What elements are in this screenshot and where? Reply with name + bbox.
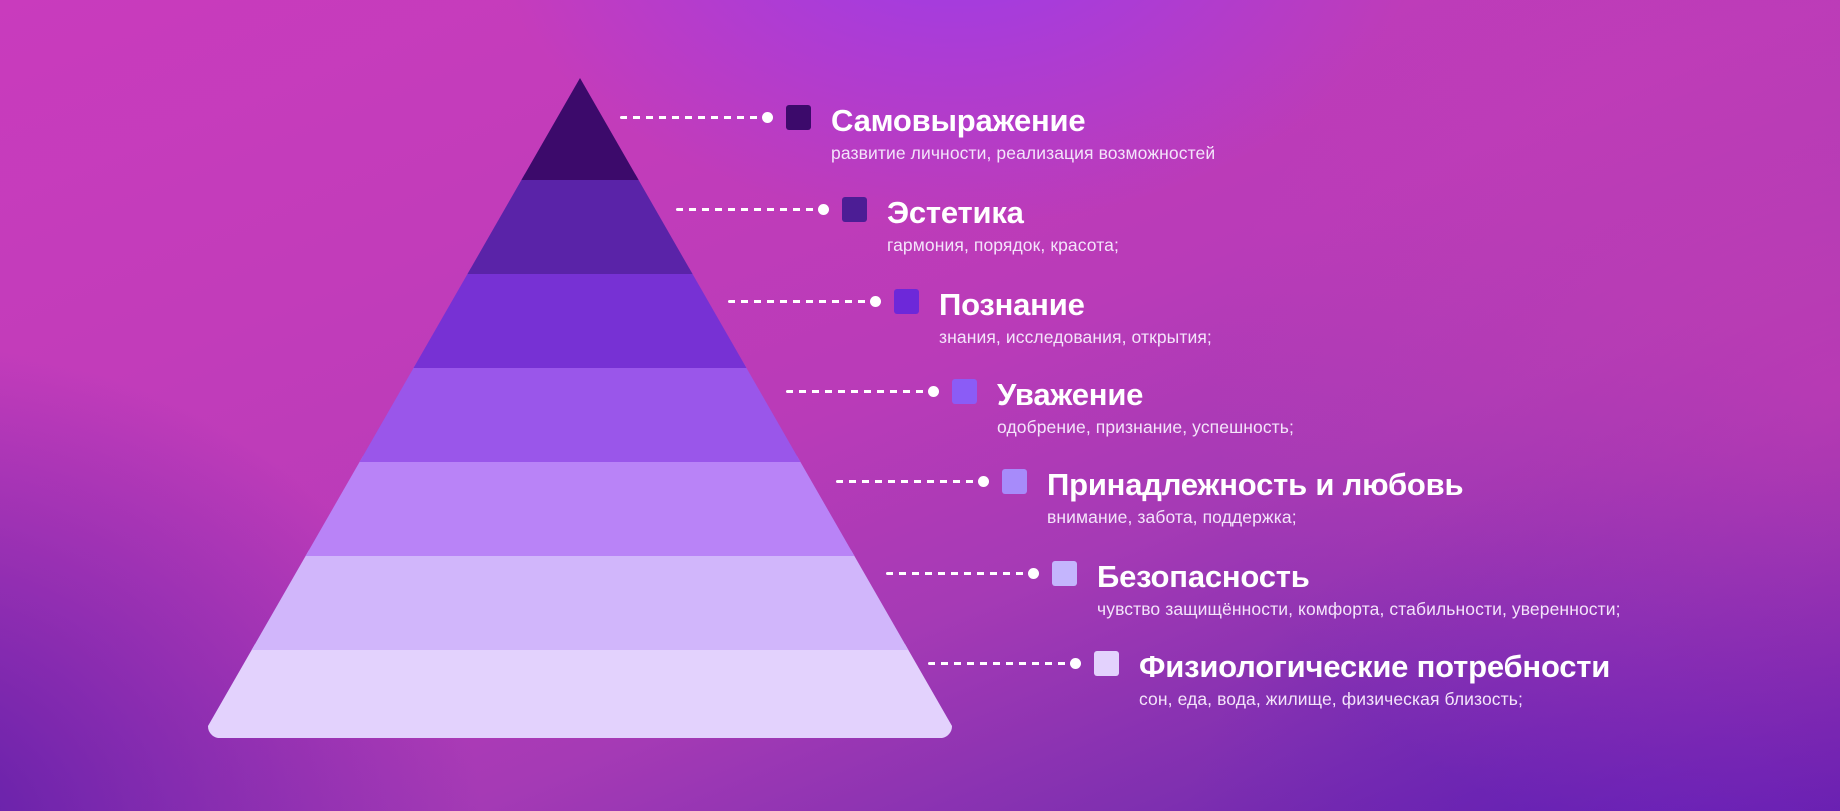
legend-title-7: Физиологические потребности — [1139, 650, 1610, 683]
pyramid-level-7 — [200, 644, 960, 738]
infographic-canvas: Самовыражение развитие личности, реализа… — [0, 0, 1840, 811]
pyramid-level-6 — [200, 550, 960, 650]
legend-subtitle-3: знания, исследования, открытия; — [939, 326, 1212, 348]
color-swatch-6 — [1052, 561, 1077, 586]
dashed-line-icon — [786, 390, 926, 393]
legend-text-4: Уважение одобрение, признание, успешност… — [997, 378, 1294, 438]
legend-subtitle-2: гармония, порядок, красота; — [887, 234, 1119, 256]
endpoint-dot-icon — [818, 204, 829, 215]
color-swatch-4 — [952, 379, 977, 404]
legend-text-7: Физиологические потребности сон, еда, во… — [1139, 650, 1610, 710]
endpoint-dot-icon — [978, 476, 989, 487]
dashed-line-icon — [836, 480, 976, 483]
legend-title-4: Уважение — [997, 378, 1294, 411]
legend-text-6: Безопасность чувство защищённости, комфо… — [1097, 560, 1621, 620]
color-swatch-1 — [786, 105, 811, 130]
dashed-line-icon — [728, 300, 868, 303]
legend-text-3: Познание знания, исследования, открытия; — [939, 288, 1212, 348]
legend-title-5: Принадлежность и любовь — [1047, 468, 1463, 501]
legend-subtitle-5: внимание, забота, поддержка; — [1047, 506, 1463, 528]
dashed-line-icon — [886, 572, 1026, 575]
legend-subtitle-7: сон, еда, вода, жилище, физическая близо… — [1139, 688, 1610, 710]
connector-2 — [676, 196, 867, 222]
legend-row-6[interactable]: Безопасность чувство защищённости, комфо… — [886, 560, 1621, 620]
legend-subtitle-6: чувство защищённости, комфорта, стабильн… — [1097, 598, 1621, 620]
legend-row-4[interactable]: Уважение одобрение, признание, успешност… — [786, 378, 1294, 438]
connector-5 — [836, 468, 1027, 494]
legend-title-2: Эстетика — [887, 196, 1119, 229]
legend-text-5: Принадлежность и любовь внимание, забота… — [1047, 468, 1463, 528]
dashed-line-icon — [928, 662, 1068, 665]
color-swatch-5 — [1002, 469, 1027, 494]
legend-text-1: Самовыражение развитие личности, реализа… — [831, 104, 1215, 164]
connector-6 — [886, 560, 1077, 586]
legend-row-1[interactable]: Самовыражение развитие личности, реализа… — [620, 104, 1215, 164]
connector-1 — [620, 104, 811, 130]
legend-title-6: Безопасность — [1097, 560, 1621, 593]
legend-row-3[interactable]: Познание знания, исследования, открытия; — [728, 288, 1212, 348]
connector-3 — [728, 288, 919, 314]
legend-row-5[interactable]: Принадлежность и любовь внимание, забота… — [836, 468, 1463, 528]
legend-text-2: Эстетика гармония, порядок, красота; — [887, 196, 1119, 256]
endpoint-dot-icon — [870, 296, 881, 307]
color-swatch-3 — [894, 289, 919, 314]
legend-subtitle-4: одобрение, признание, успешность; — [997, 416, 1294, 438]
dashed-line-icon — [620, 116, 760, 119]
color-swatch-7 — [1094, 651, 1119, 676]
legend-title-3: Познание — [939, 288, 1212, 321]
endpoint-dot-icon — [762, 112, 773, 123]
connector-4 — [786, 378, 977, 404]
endpoint-dot-icon — [1028, 568, 1039, 579]
legend-row-7[interactable]: Физиологические потребности сон, еда, во… — [928, 650, 1610, 710]
color-swatch-2 — [842, 197, 867, 222]
legend-title-1: Самовыражение — [831, 104, 1215, 137]
legend-subtitle-1: развитие личности, реализация возможност… — [831, 142, 1215, 164]
dashed-line-icon — [676, 208, 816, 211]
legend-row-2[interactable]: Эстетика гармония, порядок, красота; — [676, 196, 1119, 256]
connector-7 — [928, 650, 1119, 676]
endpoint-dot-icon — [1070, 658, 1081, 669]
endpoint-dot-icon — [928, 386, 939, 397]
